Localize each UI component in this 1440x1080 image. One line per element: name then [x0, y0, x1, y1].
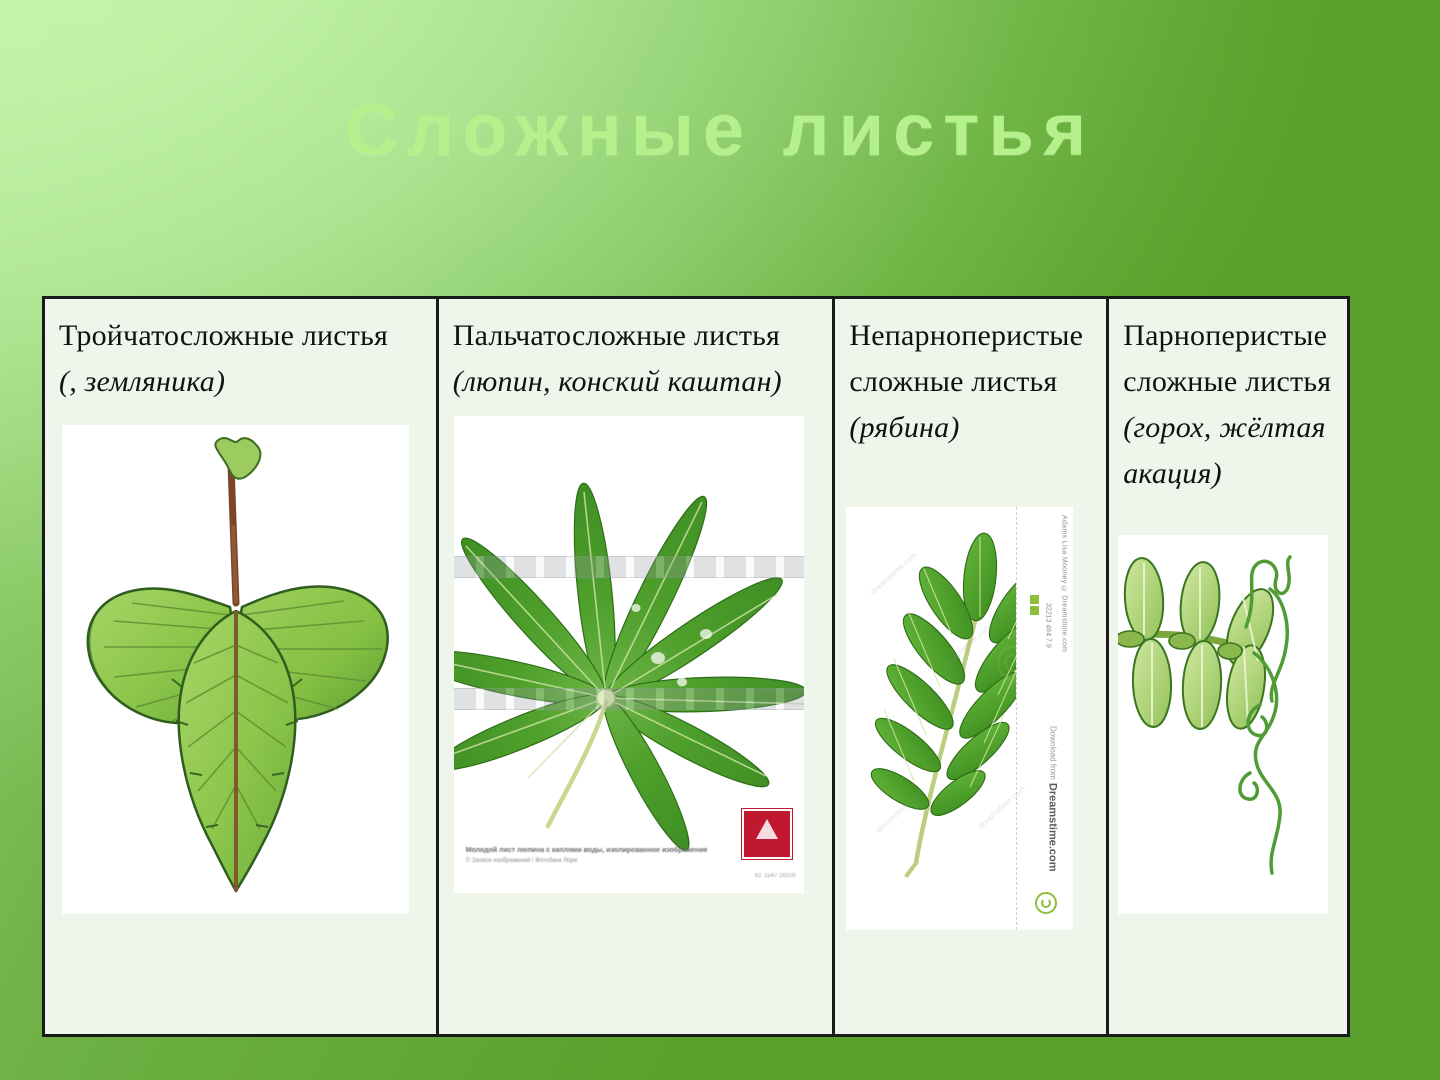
dreamstime-watermark-rail: Adams Lisa Mooney © Dreamstime.com 32213…	[1016, 507, 1073, 930]
dreamstime-logo-icon	[1035, 892, 1057, 914]
stock-agency-logo-icon	[742, 809, 792, 859]
slide: Сложные листья Тройчатосложные листья (,…	[0, 0, 1440, 1080]
rail-download-big: Dreamstime.com	[1046, 783, 1058, 872]
media-palmate: Молодой лист люпина с каплями воды, изол…	[439, 409, 833, 1034]
rail-download-label: Download from Dreamstime.com	[1045, 726, 1059, 872]
column-heading-even-pinnate: Парноперистые сложные листья (горох, жёл…	[1109, 299, 1347, 501]
photo-plate-pea	[1118, 535, 1328, 914]
heading-text: Пальчатосложные листья	[453, 319, 780, 352]
heading-examples: (люпин, конский каштан)	[453, 365, 782, 398]
heading-examples: (рябина)	[849, 411, 959, 444]
media-odd-pinnate: Adams Lisa Mooney © Dreamstime.com 32213…	[835, 455, 1106, 1034]
heading-examples: (, земляника)	[59, 365, 225, 398]
caption-main: Молодой лист люпина с каплями воды, изол…	[466, 847, 708, 854]
media-even-pinnate	[1109, 501, 1347, 1034]
heading-text: Парноперистые сложные листья	[1123, 319, 1331, 398]
table-column-odd-pinnate: Непарноперистые сложные листья (рябина)	[832, 299, 1106, 1034]
stock-photo-id: ID: 1547 28100	[755, 873, 796, 879]
caption-credit: © Записи изображений / Фотобанк Лори	[466, 856, 716, 867]
stock-photo-caption: Молодой лист люпина с каплями воды, изол…	[466, 845, 716, 867]
leaf-types-table: Тройчатосложные листья (, земляника)	[42, 296, 1350, 1037]
photo-plate-strawberry	[62, 425, 409, 914]
pea-leaf-illustration	[1118, 535, 1328, 914]
column-heading-palmate: Пальчатосложные листья (люпин, конский к…	[439, 299, 833, 409]
photo-plate-lupine: Молодой лист люпина с каплями воды, изол…	[454, 416, 804, 893]
rail-image-id: 32213 464 7.9	[1044, 603, 1051, 648]
watermark-band-top	[454, 556, 804, 578]
heading-text: Тройчатосложные листья	[59, 319, 388, 352]
rail-swatch-2-icon	[1030, 606, 1039, 615]
page-title: Сложные листья	[0, 86, 1440, 174]
table-column-even-pinnate: Парноперистые сложные листья (горох, жёл…	[1106, 299, 1347, 1034]
column-heading-odd-pinnate: Непарноперистые сложные листья (рябина)	[835, 299, 1106, 455]
photo-plate-rowan: Adams Lisa Mooney © Dreamstime.com 32213…	[846, 507, 1073, 930]
table-column-palmate: Пальчатосложные листья (люпин, конский к…	[436, 299, 833, 1034]
strawberry-leaf-illustration	[62, 425, 409, 914]
watermark-band-bottom	[454, 688, 804, 710]
column-heading-trifoliate: Тройчатосложные листья (, земляника)	[45, 299, 436, 409]
table-column-trifoliate: Тройчатосложные листья (, земляника)	[45, 299, 436, 1034]
heading-examples: (горох, жёлтая акация)	[1123, 411, 1326, 490]
heading-text: Непарноперистые сложные листья	[849, 319, 1083, 398]
rail-download-small: Download from	[1048, 726, 1057, 780]
rail-credit: Adams Lisa Mooney © Dreamstime.com	[1060, 515, 1067, 652]
rail-swatch-icon	[1030, 595, 1039, 604]
media-trifoliate	[45, 409, 436, 1034]
